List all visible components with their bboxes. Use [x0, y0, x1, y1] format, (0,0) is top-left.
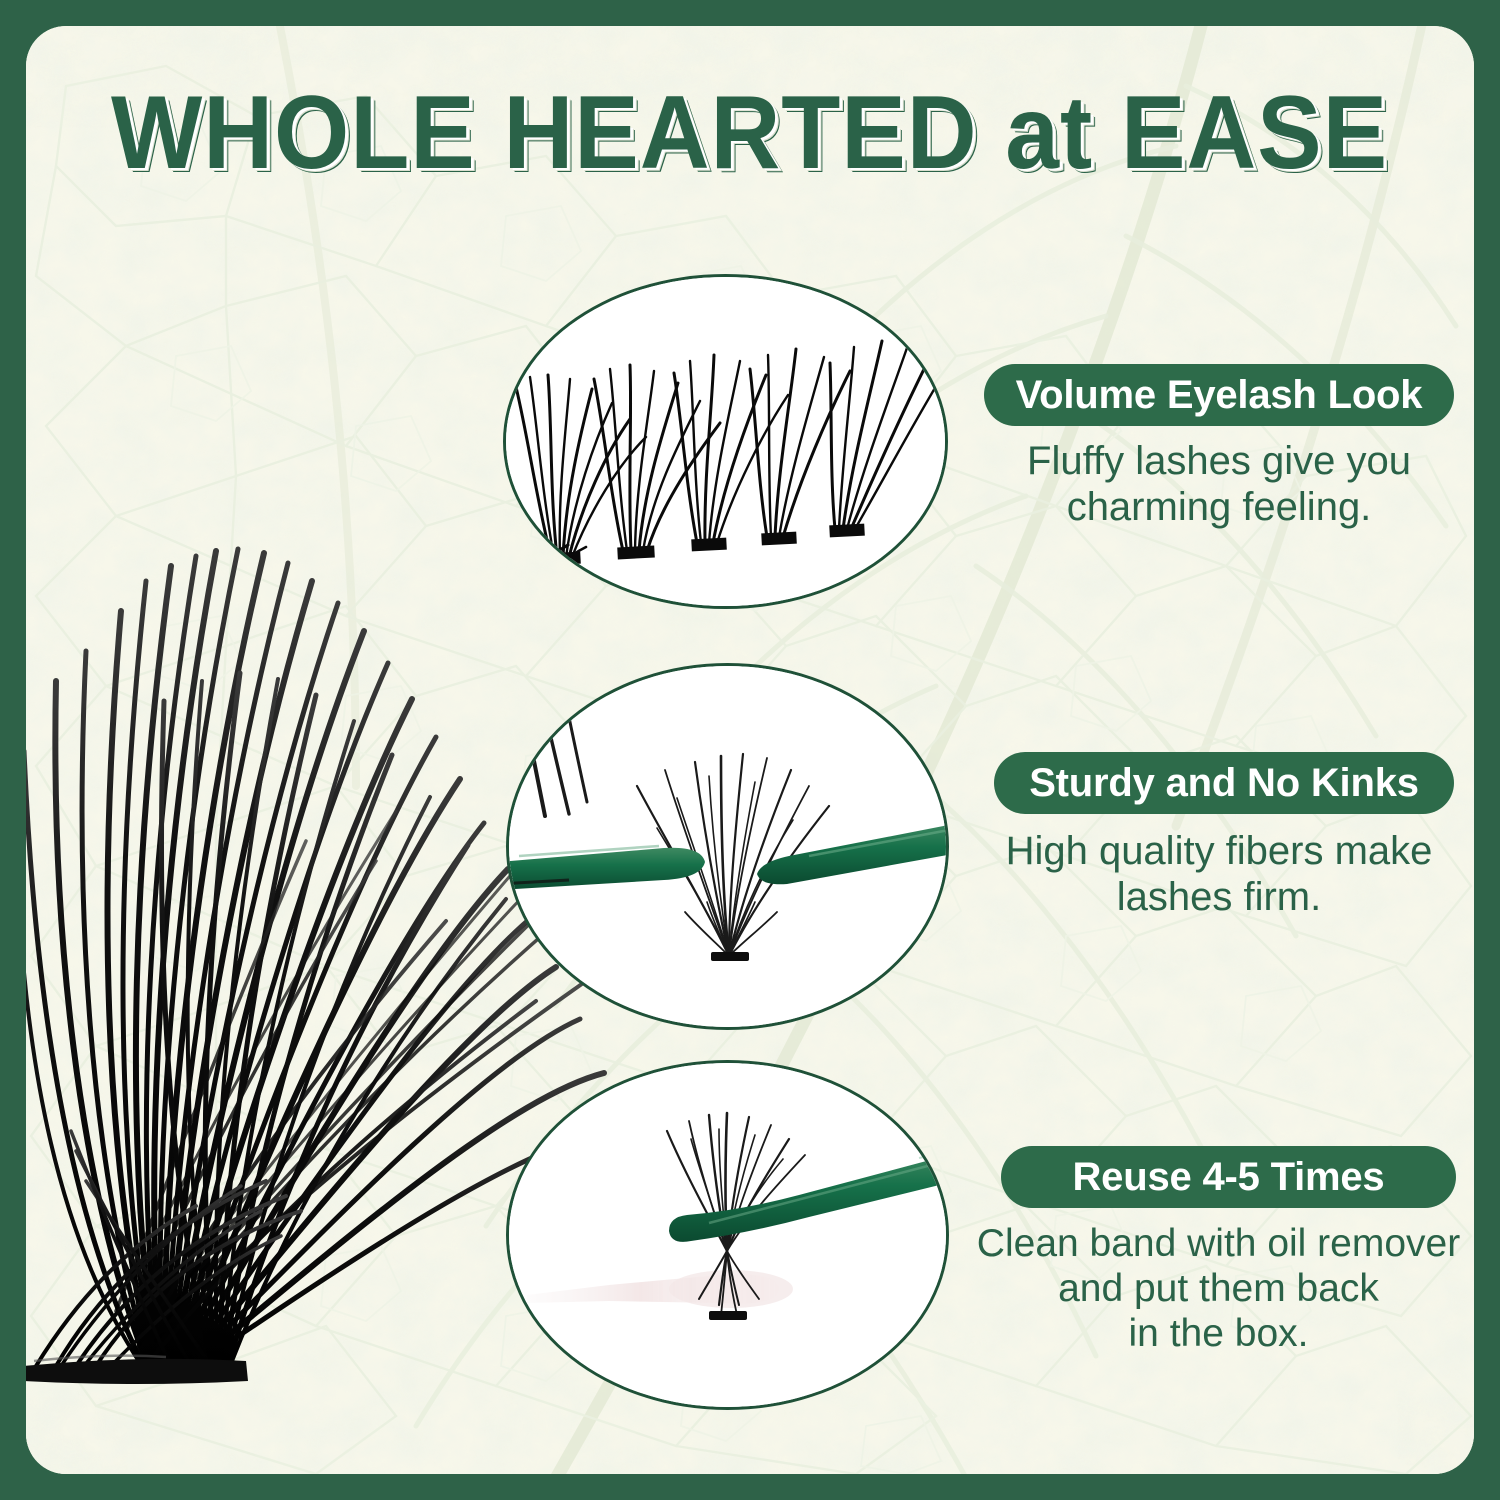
feature-description-sturdy-and-no-kinks: High quality fibers make lashes firm.: [964, 828, 1474, 920]
feature-description-volume-eyelash-look: Fluffy lashes give you charming feeling.: [964, 438, 1474, 530]
feature-badge-volume-eyelash-look: Volume Eyelash Look: [984, 364, 1454, 426]
lash-row-closeup-photo: [503, 274, 948, 609]
page-title: WHOLE HEARTED at EASE: [111, 80, 1388, 186]
content-panel: WHOLE HEARTED at EASE: [26, 26, 1474, 1474]
poster-title-wrap: WHOLE HEARTED at EASE: [26, 80, 1474, 186]
feature-badge-reuse-4-5-times: Reuse 4-5 Times: [1001, 1146, 1456, 1208]
product-infographic-poster: WHOLE HEARTED at EASE: [0, 0, 1500, 1500]
feature-description-reuse-4-5-times: Clean band with oil remover and put them…: [946, 1222, 1474, 1357]
tweezers-holding-lash-with-swab-photo: [506, 1060, 949, 1410]
tweezers-pressing-lash-photo: [506, 663, 949, 1030]
feature-badge-sturdy-and-no-kinks: Sturdy and No Kinks: [994, 752, 1454, 814]
